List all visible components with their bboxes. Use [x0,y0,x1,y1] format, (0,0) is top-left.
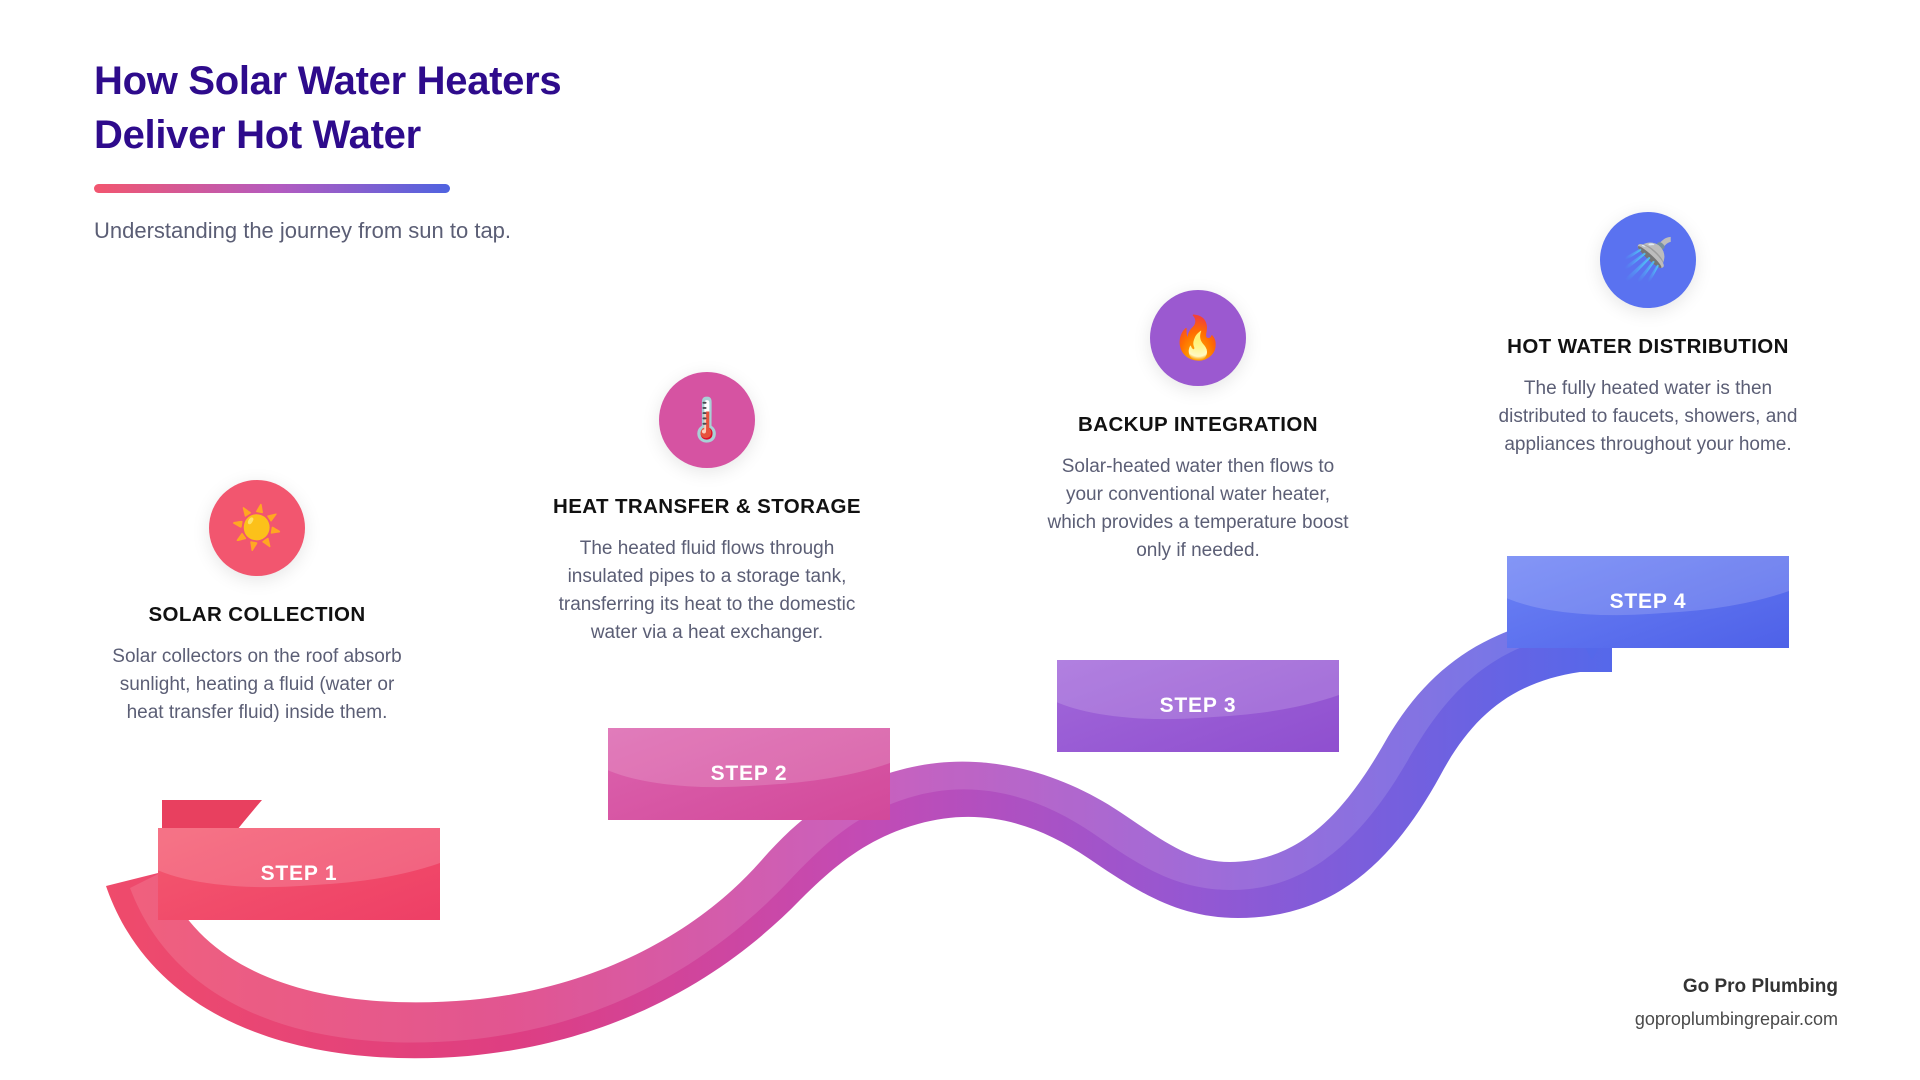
fire-icon: 🔥 [1150,290,1246,386]
title-divider [94,184,450,193]
step-badge-4: STEP 4 [1610,590,1687,614]
page-subtitle: Understanding the journey from sun to ta… [94,215,554,246]
page-title: How Solar Water Heaters Deliver Hot Wate… [94,54,714,162]
page-title-line-2: Deliver Hot Water [94,108,714,162]
shower-icon-glyph: 🚿 [1622,239,1674,281]
step-badge-3: STEP 3 [1160,694,1237,718]
header-block: How Solar Water Heaters Deliver Hot Wate… [94,54,714,246]
step-card-2: 🌡️ HEAT TRANSFER & STORAGE The heated fl… [542,372,872,647]
step-heading-2: HEAT TRANSFER & STORAGE [542,494,872,521]
page-title-line-1: How Solar Water Heaters [94,54,714,108]
step-heading-1: SOLAR COLLECTION [92,602,422,629]
step-description-1: Solar collectors on the roof absorb sunl… [92,643,422,727]
step-banner-2[interactable]: STEP 2 [608,728,890,820]
footer-brand: Go Pro Plumbing [1635,976,1838,998]
thermometer-icon-glyph: 🌡️ [681,399,733,441]
step-badge-2: STEP 2 [711,762,788,786]
step-card-4: 🚿 HOT WATER DISTRIBUTION The fully heate… [1483,212,1813,459]
step-banner-4[interactable]: STEP 4 [1507,556,1789,648]
thermometer-icon: 🌡️ [659,372,755,468]
footer-block: Go Pro Plumbing goproplumbingrepair.com [1635,976,1838,1030]
shower-icon: 🚿 [1600,212,1696,308]
footer-url: goproplumbingrepair.com [1635,1009,1838,1030]
step-card-3: 🔥 BACKUP INTEGRATION Solar-heated water … [1033,290,1363,565]
step-description-3: Solar-heated water then flows to your co… [1033,453,1363,565]
infographic-canvas: How Solar Water Heaters Deliver Hot Wate… [0,0,1920,1080]
step-description-2: The heated fluid flows through insulated… [542,535,872,647]
fire-icon-glyph: 🔥 [1172,317,1224,359]
step-heading-3: BACKUP INTEGRATION [1033,412,1363,439]
sun-icon: ☀️ [209,480,305,576]
step-card-1: ☀️ SOLAR COLLECTION Solar collectors on … [92,480,422,727]
step-description-4: The fully heated water is then distribut… [1483,375,1813,459]
step-banner-3[interactable]: STEP 3 [1057,660,1339,752]
step-badge-1: STEP 1 [261,862,338,886]
sun-icon-glyph: ☀️ [231,507,283,549]
step-banner-1[interactable]: STEP 1 [158,828,440,920]
step-heading-4: HOT WATER DISTRIBUTION [1483,334,1813,361]
